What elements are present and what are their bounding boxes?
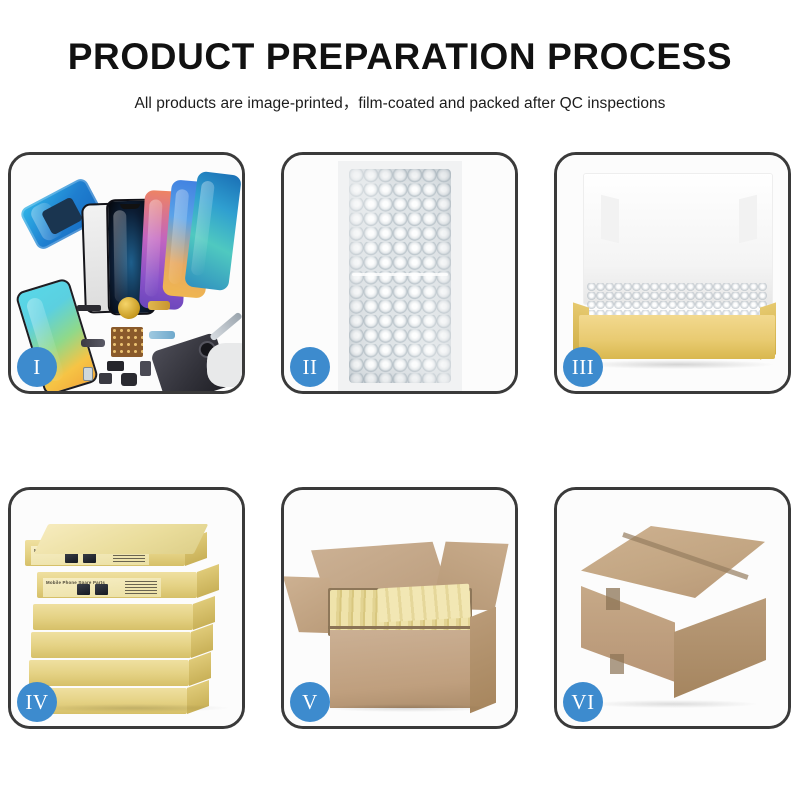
header: PRODUCT PREPARATION PROCESS All products… bbox=[0, 0, 800, 113]
step-badge-6: VI bbox=[563, 682, 603, 722]
box-label-lower: Mobile Phone Spare Parts bbox=[43, 578, 161, 597]
product-preparation-infographic: PRODUCT PREPARATION PROCESS All products… bbox=[0, 0, 800, 800]
process-step-panel-5: V bbox=[281, 487, 518, 729]
sealed-carton-tape-upper bbox=[606, 588, 620, 610]
small-part-1-icon bbox=[107, 361, 124, 371]
process-step-panel-6: VI bbox=[554, 487, 791, 729]
stacked-box-bottom-2 bbox=[29, 660, 189, 686]
stacked-box-labeled-lower: Mobile Phone Spare Parts bbox=[37, 572, 197, 598]
mailer-box-shadow bbox=[583, 360, 773, 369]
page-title: PRODUCT PREPARATION PROCESS bbox=[0, 38, 800, 77]
step-badge-1: I bbox=[17, 347, 57, 387]
small-part-2-icon bbox=[140, 361, 151, 376]
step-badge-5: V bbox=[290, 682, 330, 722]
small-part-4-icon bbox=[99, 373, 112, 384]
carton-contents-boxes-upper bbox=[377, 584, 471, 623]
sealed-carton-right-face bbox=[674, 598, 766, 698]
carton-front-rim bbox=[328, 626, 474, 629]
small-part-5-icon bbox=[121, 373, 137, 386]
process-step-panel-1: I bbox=[8, 152, 245, 394]
stacked-box-top-face bbox=[34, 524, 209, 554]
box-stack-shadow bbox=[39, 704, 229, 712]
sealed-carton-shadow bbox=[591, 700, 757, 708]
flex-cable-gold-icon bbox=[148, 301, 170, 310]
bubble-wrap-sheen bbox=[349, 169, 451, 383]
page-subtitle: All products are image-printed，film-coat… bbox=[0, 91, 800, 113]
flex-cable-dark-icon bbox=[81, 339, 105, 347]
carton-front-panel bbox=[330, 630, 472, 708]
bubble-wrap-seam bbox=[352, 273, 448, 276]
process-step-panel-3: III bbox=[554, 152, 791, 394]
step-badge-2: II bbox=[290, 347, 330, 387]
process-step-panel-4: Mobile Phone Spare Parts Mobile Phone Sp… bbox=[8, 487, 245, 729]
small-part-3-icon bbox=[83, 367, 93, 381]
stacked-box-bottom-3 bbox=[31, 632, 191, 658]
sealed-carton-tape-lower bbox=[610, 654, 624, 674]
carton-shadow bbox=[324, 704, 490, 712]
battery-connector-icon bbox=[77, 305, 101, 311]
flex-cable-blue-icon bbox=[149, 331, 175, 339]
chip-array-icon bbox=[111, 327, 143, 357]
step-badge-3: III bbox=[563, 347, 603, 387]
speaker-module-icon bbox=[118, 297, 140, 319]
box-stack: Mobile Phone Spare Parts Mobile Phone Sp… bbox=[23, 512, 235, 718]
mailer-box-front-panel bbox=[579, 315, 775, 359]
carton-right-panel bbox=[470, 607, 496, 714]
stacked-box-bottom-4 bbox=[33, 604, 193, 630]
process-step-panel-2: II bbox=[281, 152, 518, 394]
process-step-grid: I II III bbox=[8, 152, 792, 729]
technician-hand bbox=[207, 343, 245, 387]
step-badge-4: IV bbox=[17, 682, 57, 722]
tweezers-icon bbox=[209, 312, 243, 342]
sealed-carton-left-face bbox=[581, 586, 675, 682]
